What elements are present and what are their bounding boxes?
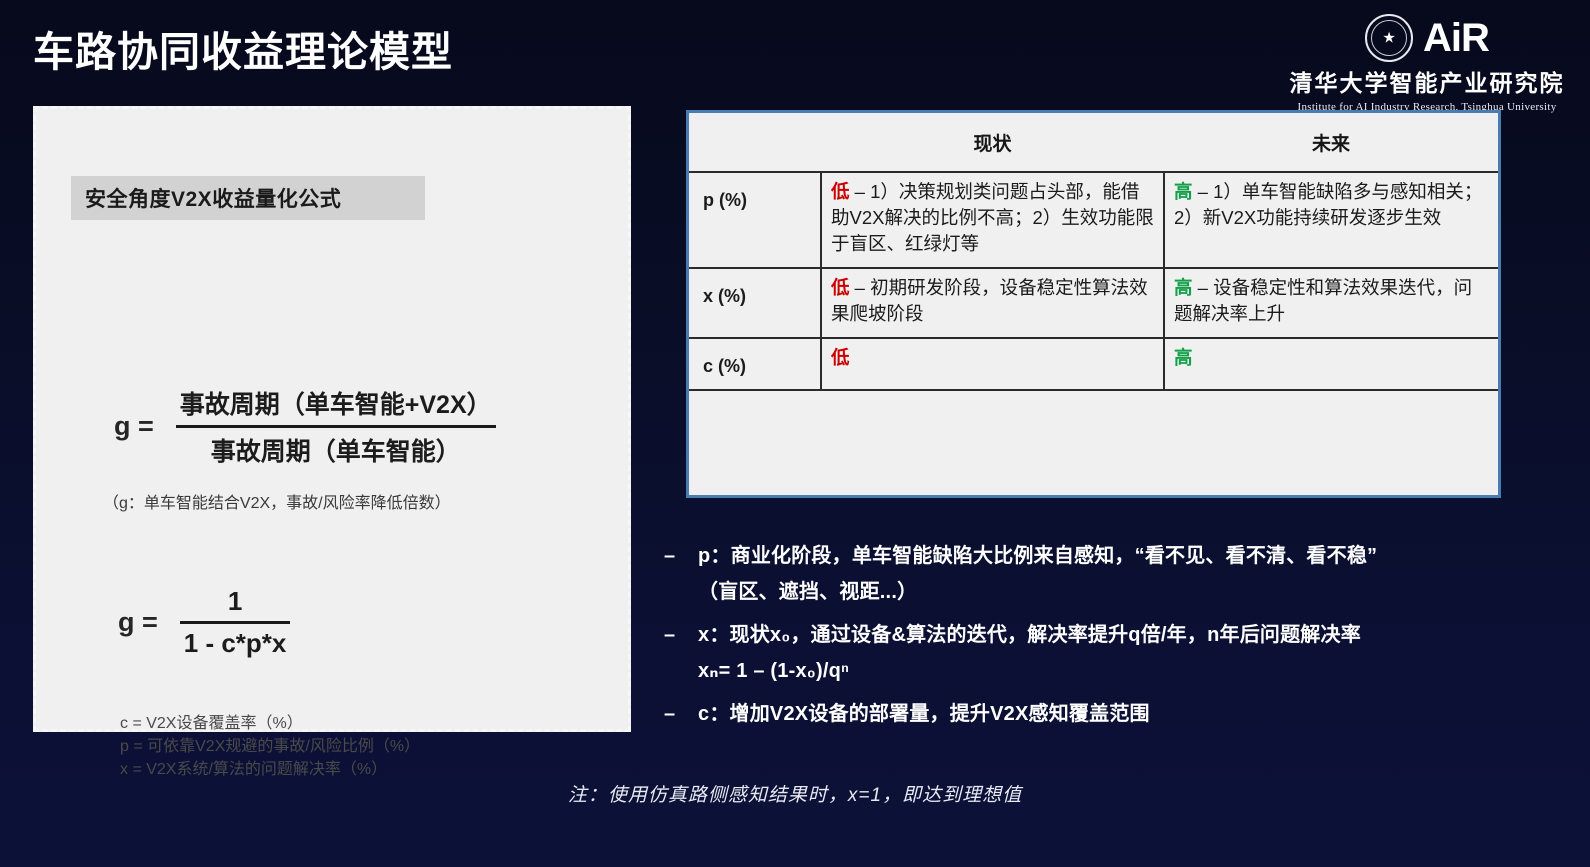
bullet-text-x-line1: x：现状x₀，通过设备&算法的迭代，解决率提升q倍/年，n年后问题解决率 — [698, 624, 1361, 646]
formula-panel-banner: 安全角度V2X收益量化公式 — [71, 176, 425, 220]
status-badge-high: 高 — [1174, 277, 1193, 298]
list-item: – p：商业化阶段，单车智能缺陷大比例来自感知，“看不见、看不清、看不稳” （盲… — [664, 538, 1544, 610]
formula-panel: 安全角度V2X收益量化公式 g = 事故周期（单车智能+V2X） 事故周期（单车… — [33, 106, 631, 732]
cell-c-future: 高 — [1164, 338, 1498, 390]
status-badge-low: 低 — [831, 181, 850, 202]
row-label-c: c (%) — [689, 338, 821, 390]
row-label-x: x (%) — [689, 268, 821, 338]
bullet-text-c: c：增加V2X设备的部署量，提升V2X感知覆盖范围 — [698, 696, 1150, 732]
bullet-marker-icon: – — [664, 617, 698, 653]
table-header-row: 现状 未来 — [689, 113, 1498, 172]
comparison-table-body: p (%) 低 – 1）决策规划类问题占头部，能借助V2X解决的比例不高；2）生… — [689, 172, 1498, 433]
column-header-future: 未来 — [1164, 113, 1498, 172]
equation-gain-fraction: 1 1 - c*p*x — [180, 585, 291, 660]
bullet-marker-icon: – — [664, 696, 698, 732]
comparison-table: 现状 未来 p (%) 低 – 1）决策规划类问题占头部，能借助V2X解决的比例… — [686, 110, 1501, 498]
spacer-cell-current — [821, 390, 1164, 433]
cell-c-current: 低 — [821, 338, 1164, 390]
logo-chinese-name: 清华大学智能产业研究院 — [1282, 64, 1572, 98]
spacer-cell-future — [1164, 390, 1498, 433]
column-header-current: 现状 — [821, 113, 1164, 172]
equation-gain-rule — [180, 621, 291, 624]
equation-gain-denominator: 1 - c*p*x — [180, 627, 291, 660]
tsinghua-seal-icon — [1365, 14, 1413, 62]
logo-top-row: AiR — [1282, 14, 1572, 62]
equation-ratio-note: （g：单车智能结合V2X，事故/风险率降低倍数） — [103, 489, 451, 513]
status-badge-low: 低 — [831, 347, 850, 368]
logo-wordmark: AiR — [1423, 18, 1489, 58]
slide-canvas: 车路协同收益理论模型 AiR 清华大学智能产业研究院 Institute for… — [0, 0, 1590, 867]
cell-p-future: 高 – 1）单车智能缺陷多与感知相关；2）新V2X功能持续研发逐步生效 — [1164, 172, 1498, 268]
cell-x-future-text: – 设备稳定性和算法效果迭代，问题解决率上升 — [1174, 277, 1472, 324]
cell-p-future-text: – 1）单车智能缺陷多与感知相关；2）新V2X功能持续研发逐步生效 — [1174, 181, 1482, 228]
table-row: x (%) 低 – 初期研发阶段，设备稳定性算法效果爬坡阶段 高 – 设备稳定性… — [689, 268, 1498, 338]
equation-ratio: g = 事故周期（单车智能+V2X） 事故周期（单车智能） — [114, 384, 496, 469]
equation-ratio-lhs: g = — [114, 411, 154, 442]
bullet-marker-icon: – — [664, 538, 698, 574]
formula-panel-banner-label: 安全角度V2X收益量化公式 — [85, 183, 341, 213]
equation-ratio-rule — [176, 425, 496, 428]
explanation-bullet-list: – p：商业化阶段，单车智能缺陷大比例来自感知，“看不见、看不清、看不稳” （盲… — [664, 538, 1544, 739]
spacer-cell-label — [689, 390, 821, 433]
air-logo: AiR 清华大学智能产业研究院 Institute for AI Industr… — [1282, 14, 1572, 113]
comparison-table-grid: 现状 未来 p (%) 低 – 1）决策规划类问题占头部，能借助V2X解决的比例… — [689, 113, 1498, 433]
equation-ratio-denominator: 事故周期（单车智能） — [176, 431, 496, 469]
status-badge-high: 高 — [1174, 347, 1193, 368]
cell-p-current: 低 – 1）决策规划类问题占头部，能借助V2X解决的比例不高；2）生效功能限于盲… — [821, 172, 1164, 268]
variable-legend-item-x: x = V2X系统/算法的问题解决率（%） — [120, 758, 420, 781]
equation-gain-numerator: 1 — [180, 585, 291, 618]
bullet-text-c-line1: c：增加V2X设备的部署量，提升V2X感知覆盖范围 — [698, 703, 1150, 725]
footnote: 注：使用仿真路侧感知结果时，x=1，即达到理想值 — [0, 780, 1590, 807]
equation-gain-lhs: g = — [118, 607, 158, 638]
table-footer-spacer-row — [689, 390, 1498, 433]
table-row: c (%) 低 高 — [689, 338, 1498, 390]
equation-gain: g = 1 1 - c*p*x — [118, 585, 290, 660]
list-item: – x：现状x₀，通过设备&算法的迭代，解决率提升q倍/年，n年后问题解决率 x… — [664, 617, 1544, 689]
cell-x-current: 低 – 初期研发阶段，设备稳定性算法效果爬坡阶段 — [821, 268, 1164, 338]
bullet-text-p-line2: （盲区、遮挡、视距...） — [698, 574, 1377, 610]
variable-legend: c = V2X设备覆盖率（%） p = 可依靠V2X规避的事故/风险比例（%） … — [120, 712, 420, 781]
table-row: p (%) 低 – 1）决策规划类问题占头部，能借助V2X解决的比例不高；2）生… — [689, 172, 1498, 268]
variable-legend-item-p: p = 可依靠V2X规避的事故/风险比例（%） — [120, 735, 420, 758]
column-header-blank — [689, 113, 821, 172]
cell-x-future: 高 – 设备稳定性和算法效果迭代，问题解决率上升 — [1164, 268, 1498, 338]
cell-x-current-text: – 初期研发阶段，设备稳定性算法效果爬坡阶段 — [831, 277, 1148, 324]
variable-legend-item-c: c = V2X设备覆盖率（%） — [120, 712, 420, 735]
bullet-text-x: x：现状x₀，通过设备&算法的迭代，解决率提升q倍/年，n年后问题解决率 xₙ=… — [698, 617, 1361, 689]
status-badge-low: 低 — [831, 277, 850, 298]
bullet-text-p: p：商业化阶段，单车智能缺陷大比例来自感知，“看不见、看不清、看不稳” （盲区、… — [698, 538, 1377, 610]
page-title: 车路协同收益理论模型 — [33, 18, 453, 78]
bullet-text-p-line1: p：商业化阶段，单车智能缺陷大比例来自感知，“看不见、看不清、看不稳” — [698, 545, 1377, 567]
equation-ratio-numerator: 事故周期（单车智能+V2X） — [176, 384, 496, 422]
equation-ratio-fraction: 事故周期（单车智能+V2X） 事故周期（单车智能） — [176, 384, 496, 469]
status-badge-high: 高 — [1174, 181, 1193, 202]
bullet-text-x-formula: xₙ= 1 – (1-x₀)/qⁿ — [698, 653, 1361, 689]
row-label-p: p (%) — [689, 172, 821, 268]
comparison-table-head: 现状 未来 — [689, 113, 1498, 172]
cell-p-current-text: – 1）决策规划类问题占头部，能借助V2X解决的比例不高；2）生效功能限于盲区、… — [831, 181, 1154, 254]
list-item: – c：增加V2X设备的部署量，提升V2X感知覆盖范围 — [664, 696, 1544, 732]
